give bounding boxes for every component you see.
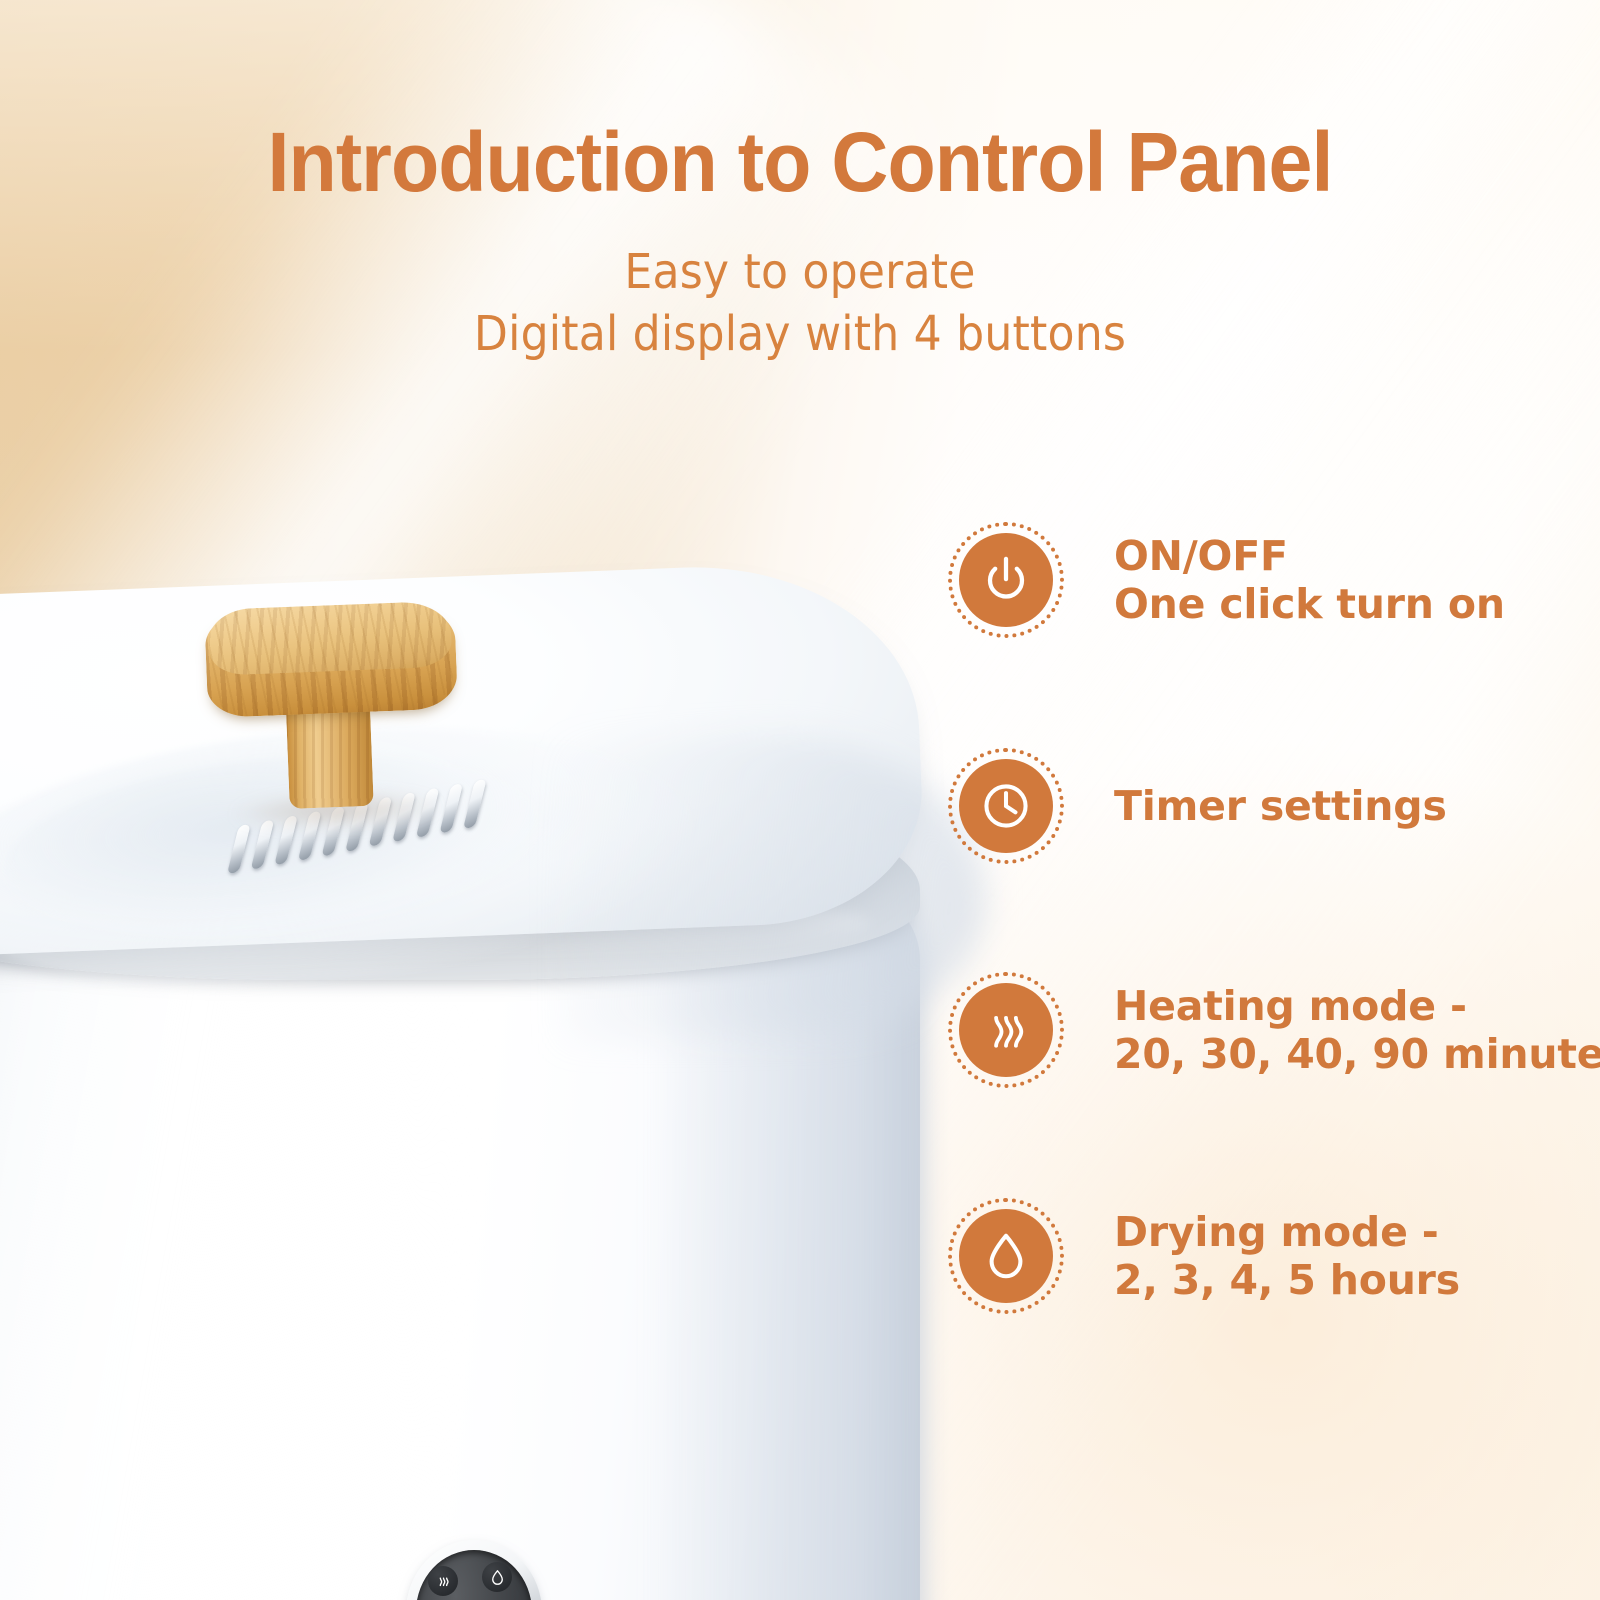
feature-badge xyxy=(948,748,1064,864)
lid-edge-shading xyxy=(549,726,990,1042)
feature-line-1: Drying mode - xyxy=(1114,1208,1439,1256)
control-panel[interactable] xyxy=(406,1540,542,1600)
feature-line-1: ON/OFF xyxy=(1114,532,1288,580)
feature-line-2: One click turn on xyxy=(1114,580,1505,628)
clock-icon xyxy=(959,759,1053,853)
feature-line-1: Timer settings xyxy=(1114,782,1447,830)
drying-button[interactable] xyxy=(482,1562,512,1592)
feature-line-2: 2, 3, 4, 5 hours xyxy=(1114,1256,1460,1304)
feature-badge xyxy=(948,1198,1064,1314)
subtitle-line-2: Digital display with 4 buttons xyxy=(64,306,1536,362)
feature-text: ON/OFF One click turn on xyxy=(1114,532,1505,629)
page-title: Introduction to Control Panel xyxy=(48,118,1552,206)
product-lid xyxy=(0,559,927,961)
subtitle-line-1: Easy to operate xyxy=(64,244,1536,300)
heat-waves-icon xyxy=(959,983,1053,1077)
feature-item-power[interactable]: ON/OFF One click turn on xyxy=(948,522,1505,638)
feature-item-drying[interactable]: Drying mode - 2, 3, 4, 5 hours xyxy=(948,1198,1460,1314)
feature-badge xyxy=(948,972,1064,1088)
feature-item-heating[interactable]: Heating mode - 20, 30, 40, 90 minutes xyxy=(948,972,1600,1088)
water-drop-icon xyxy=(959,1209,1053,1303)
heating-button[interactable] xyxy=(428,1566,458,1596)
power-icon xyxy=(959,533,1053,627)
marketing-image: Introduction to Control Panel Easy to op… xyxy=(0,0,1600,1600)
feature-line-2: 20, 30, 40, 90 minutes xyxy=(1114,1030,1600,1078)
knob-wood-grain xyxy=(208,601,454,718)
feature-item-timer[interactable]: Timer settings xyxy=(948,748,1447,864)
feature-badge xyxy=(948,522,1064,638)
feature-line-1: Heating mode - xyxy=(1114,982,1467,1030)
feature-text: Drying mode - 2, 3, 4, 5 hours xyxy=(1114,1208,1460,1305)
product-photo-foot-spa xyxy=(0,470,980,1600)
feature-text: Timer settings xyxy=(1114,782,1447,830)
feature-text: Heating mode - 20, 30, 40, 90 minutes xyxy=(1114,982,1600,1079)
product-body-highlight xyxy=(0,890,440,1600)
